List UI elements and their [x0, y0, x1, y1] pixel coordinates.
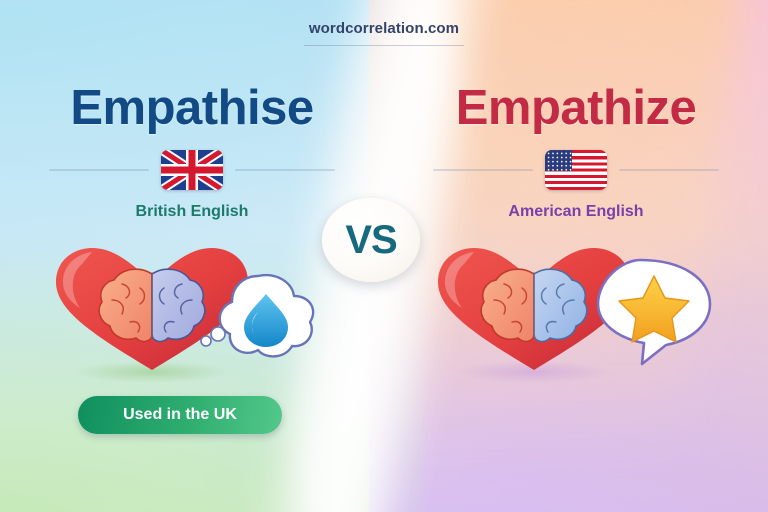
left-rule-start	[49, 169, 149, 171]
left-usage-pill[interactable]: Used in the UK	[78, 396, 282, 434]
right-word: Empathize	[384, 84, 768, 133]
right-rule-start	[433, 169, 533, 171]
speech-bubble-icon	[598, 260, 710, 364]
right-rule-end	[619, 169, 719, 171]
left-language-label: British English	[0, 203, 384, 221]
vs-label: VS	[345, 218, 396, 263]
uk-flag-icon	[161, 150, 223, 190]
left-flag-row	[0, 150, 384, 190]
left-rule-end	[235, 169, 335, 171]
right-language-label: American English	[384, 203, 768, 221]
vs-badge: VS	[322, 198, 420, 282]
right-panel: Empathize American English	[384, 0, 768, 512]
left-illustration	[0, 238, 384, 386]
left-usage-pill-label: Used in the UK	[123, 406, 237, 424]
brain-icon	[481, 269, 587, 341]
us-flag-icon	[545, 150, 607, 190]
left-word: Empathise	[0, 84, 384, 133]
comparison-card: wordcorrelation.com Empathise British En…	[0, 0, 768, 512]
right-flag-row	[384, 150, 768, 190]
brain-icon	[99, 269, 205, 341]
right-illustration	[384, 238, 768, 386]
